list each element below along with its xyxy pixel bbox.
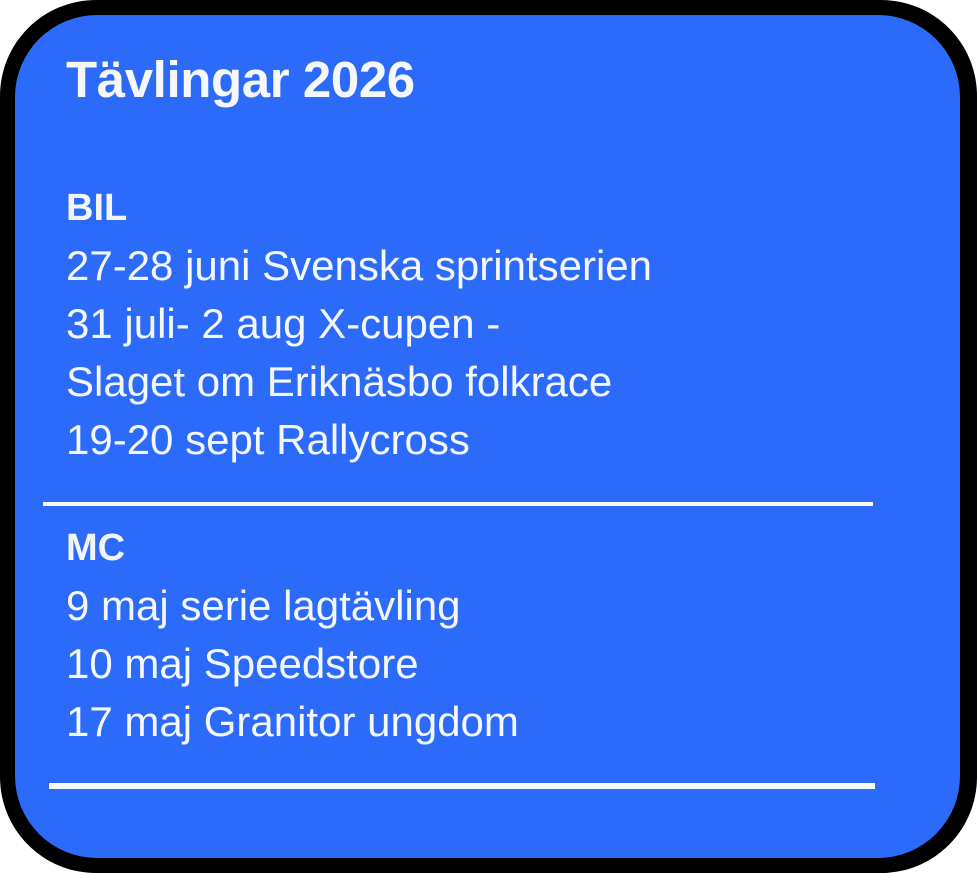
- section-mc: MC 9 maj serie lagtävling 10 maj Speedst…: [66, 520, 519, 751]
- section-heading-mc: MC: [66, 520, 519, 577]
- event-item: 27-28 juni Svenska sprintserien: [66, 237, 652, 295]
- event-item: 10 maj Speedstore: [66, 635, 519, 693]
- card-border-frame: Tävlingar 2026 BIL 27-28 juni Svenska sp…: [0, 0, 977, 873]
- event-item: Slaget om Eriknäsbo folkrace: [66, 353, 652, 411]
- event-item: 31 juli- 2 aug X-cupen -: [66, 295, 652, 353]
- event-item: 17 maj Granitor ungdom: [66, 693, 519, 751]
- section-divider-mc: [49, 783, 875, 789]
- competitions-card: Tävlingar 2026 BIL 27-28 juni Svenska sp…: [15, 15, 960, 858]
- event-item: 19-20 sept Rallycross: [66, 411, 652, 469]
- section-divider-bil: [43, 502, 873, 506]
- event-item: 9 maj serie lagtävling: [66, 577, 519, 635]
- page-title: Tävlingar 2026: [66, 50, 415, 109]
- section-heading-bil: BIL: [66, 180, 652, 237]
- section-bil: BIL 27-28 juni Svenska sprintserien 31 j…: [66, 180, 652, 469]
